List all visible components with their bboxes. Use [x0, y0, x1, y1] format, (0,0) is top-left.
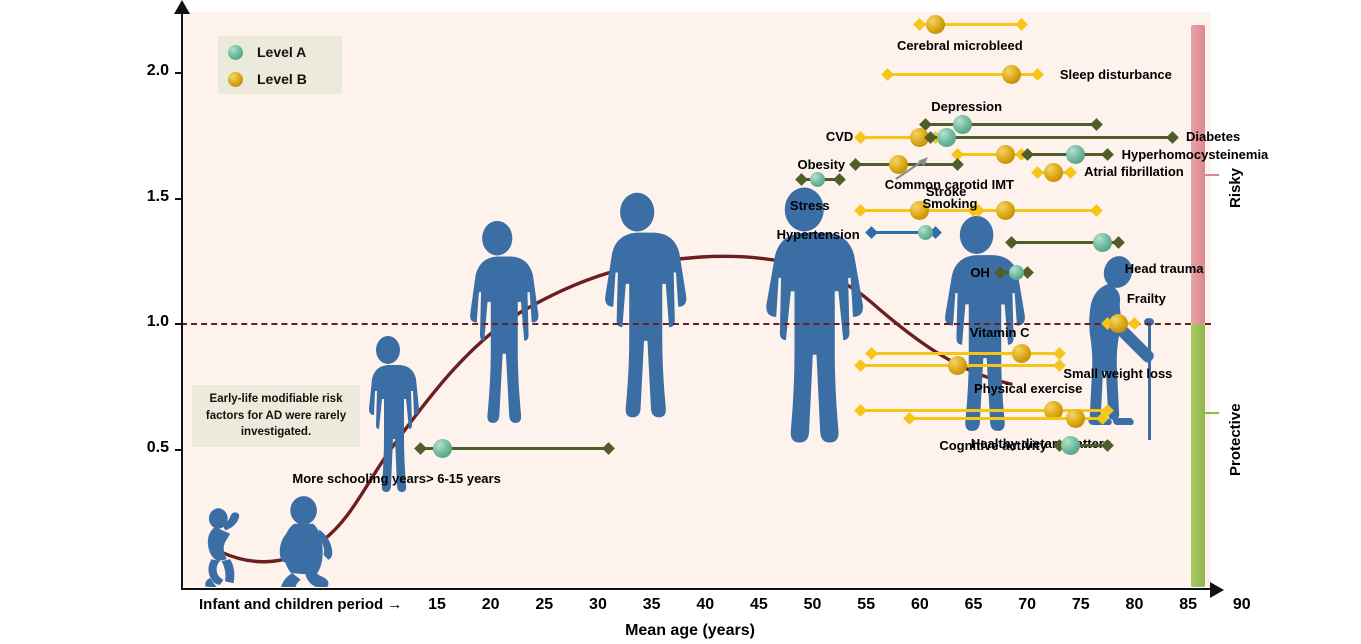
x-axis-arrow [1210, 582, 1224, 598]
risk-factor-label: Diabetes [1186, 129, 1240, 144]
risk-factor-label: OH [970, 265, 990, 280]
x-tick-label-20: 20 [482, 596, 500, 614]
reference-line-rr-1 [181, 323, 1211, 325]
risk-factor-label: Hyperhomocysteinemia [1122, 147, 1269, 162]
risky-scale-bar [1191, 25, 1205, 324]
risk-factor-label: Small weight loss [1063, 366, 1172, 381]
x-tick-label-30: 30 [589, 596, 607, 614]
risk-factor-label: Cognitive activity [939, 438, 1047, 453]
risk-factor-label: More schooling years> 6-15 years [292, 471, 500, 486]
legend-label-level-b: Level B [257, 71, 307, 87]
trend-curve [181, 12, 1211, 587]
risk-factor-label: Obesity [797, 157, 845, 172]
y-tick-label-2: 2.0 [125, 62, 169, 80]
risk-factor-label: CVD [826, 129, 853, 144]
x-axis [181, 588, 1213, 590]
risk-factor-label: Hypertension [777, 227, 860, 242]
infant-period-label: Infant and children period → [199, 596, 402, 613]
x-tick-label-80: 80 [1126, 596, 1144, 614]
point-estimate-marker[interactable] [948, 356, 967, 375]
risk-factor-label: Head trauma [1125, 261, 1204, 276]
y-tick [175, 72, 183, 74]
early-life-note-box: Early-life modifiable risk factors for A… [192, 385, 360, 447]
x-tick-label-15: 15 [428, 596, 446, 614]
point-estimate-marker[interactable] [1012, 344, 1031, 363]
risky-label: Risky [1227, 168, 1244, 208]
x-tick-label-90: 90 [1233, 596, 1251, 614]
point-estimate-marker[interactable] [918, 225, 933, 240]
legend-item-level-b[interactable]: Level B [228, 66, 307, 92]
early-life-note-text: Early-life modifiable risk factors for A… [192, 391, 360, 441]
x-tick-label-35: 35 [643, 596, 661, 614]
risk-factor-label: Smoking [923, 196, 978, 211]
protective-label: Protective [1227, 403, 1244, 476]
x-tick-label-85: 85 [1179, 596, 1197, 614]
x-tick-label-45: 45 [750, 596, 768, 614]
x-tick-label-65: 65 [965, 596, 983, 614]
protective-scale-bar [1191, 324, 1205, 587]
level-b-marker-icon [228, 72, 243, 87]
legend-label-level-a: Level A [257, 44, 306, 60]
point-estimate-marker[interactable] [996, 201, 1015, 220]
risk-factor-label: Physical exercise [974, 381, 1082, 396]
y-tick-label-1.5: 1.5 [125, 188, 169, 206]
point-estimate-marker[interactable] [1109, 314, 1128, 333]
risk-factor-label: Frailty [1127, 291, 1166, 306]
confidence-interval-line [974, 209, 1097, 212]
x-tick-label-70: 70 [1018, 596, 1036, 614]
x-tick-label-25: 25 [535, 596, 553, 614]
legend: Level A Level B [218, 36, 342, 94]
confidence-interval-line [925, 123, 1097, 126]
x-tick-label-55: 55 [857, 596, 875, 614]
confidence-interval-line [931, 136, 1172, 139]
y-tick [175, 198, 183, 200]
confidence-interval-line [872, 352, 1060, 355]
point-estimate-marker[interactable] [1066, 409, 1085, 428]
point-estimate-marker[interactable] [433, 439, 452, 458]
common-carotid-imt-callout-arrow [894, 157, 930, 181]
risk-factor-label: Stress [790, 198, 830, 213]
y-axis-arrow [174, 0, 190, 14]
x-tick-label-40: 40 [696, 596, 714, 614]
y-axis [181, 12, 183, 590]
point-estimate-marker[interactable] [937, 128, 956, 147]
y-tick [175, 449, 183, 451]
x-tick-label-60: 60 [911, 596, 929, 614]
x-axis-title: Mean age (years) [625, 622, 755, 640]
figure-canvas: Risky Protective Level A Level B Early-l… [0, 0, 1361, 644]
y-tick-label-1: 1.0 [125, 313, 169, 331]
point-estimate-marker[interactable] [1093, 233, 1112, 252]
point-estimate-marker[interactable] [1002, 65, 1021, 84]
protective-tick [1205, 412, 1219, 414]
level-a-marker-icon [228, 45, 243, 60]
risky-tick [1205, 174, 1219, 176]
y-tick-label-0.5: 0.5 [125, 439, 169, 457]
plot-panel: Risky Protective Level A Level B Early-l… [181, 12, 1211, 587]
risk-factor-label: Atrial fibrillation [1084, 164, 1184, 179]
risk-factor-label: Sleep disturbance [1060, 67, 1172, 82]
risk-factor-label: Depression [931, 99, 1002, 114]
risk-factor-label: Vitamin C [970, 325, 1030, 340]
y-tick [175, 323, 183, 325]
x-tick-label-75: 75 [1072, 596, 1090, 614]
x-tick-label-50: 50 [804, 596, 822, 614]
legend-item-level-a[interactable]: Level A [228, 39, 306, 65]
risk-factor-label: Cerebral microbleed [897, 38, 1023, 53]
point-estimate-marker[interactable] [1061, 436, 1080, 455]
